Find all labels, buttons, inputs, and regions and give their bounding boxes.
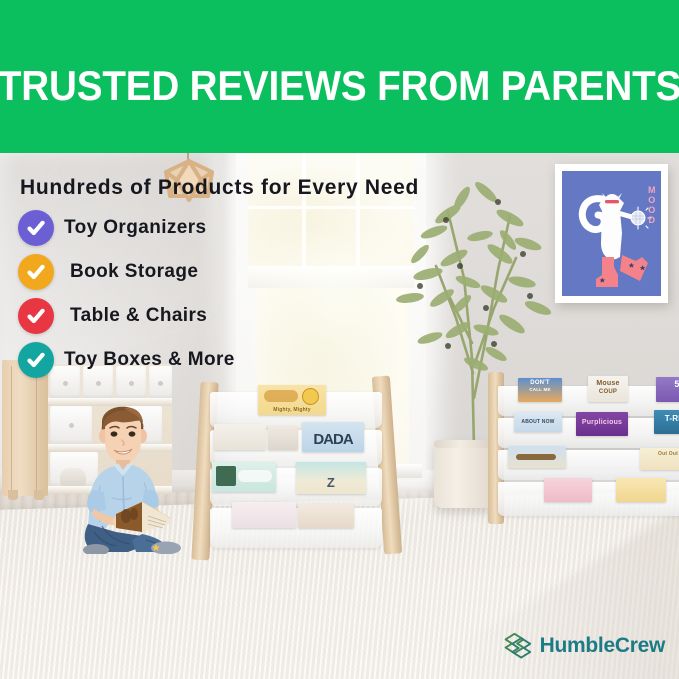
book: 5 — [656, 377, 679, 402]
feature-label: Toy Organizers — [64, 217, 207, 239]
organizer-leg — [8, 490, 18, 500]
feature-label: Book Storage — [70, 261, 198, 283]
check-icon — [18, 342, 54, 378]
check-icon — [18, 254, 54, 290]
feature-item-table-and-chairs: Table & Chairs — [18, 294, 438, 338]
brand-name: HumbleCrew — [540, 634, 665, 658]
book: DON'T CALL ME — [518, 378, 562, 402]
book — [544, 478, 592, 502]
page-title: TRUSTED REVIEWS FROM PARENTS — [27, 0, 652, 153]
book — [214, 424, 266, 450]
check-icon — [18, 298, 54, 334]
interlocking-diamonds-logo-icon — [503, 631, 533, 661]
feature-item-book-storage: Book Storage — [18, 250, 438, 294]
poster-mood-text: MOOD — [648, 185, 656, 225]
book: Mouse COUP — [588, 376, 628, 402]
center-sling-bookcase: Mighty, Mighty DADA Z — [196, 382, 396, 560]
subheading: Hundreds of Products for Every Need — [20, 176, 419, 200]
brand-logo: HumbleCrew — [503, 631, 665, 661]
book: ABOUT NOW — [514, 412, 562, 432]
feature-label: Toy Boxes & More — [64, 349, 235, 371]
feature-list: Toy Organizers Book Storage Table & Chai… — [18, 206, 438, 382]
check-icon — [18, 210, 54, 246]
organizer-leg — [34, 490, 44, 500]
book — [508, 446, 566, 468]
book: Z — [296, 462, 366, 494]
child-reading-book — [66, 394, 216, 554]
promo-image: MOOD — [0, 0, 679, 679]
book — [616, 478, 666, 502]
feature-item-toy-organizers: Toy Organizers — [18, 206, 438, 250]
right-sling-bookcase: DON'T CALL ME Mouse COUP 5 ABOUT NOW Pur… — [488, 372, 679, 528]
feature-item-toy-boxes: Toy Boxes & More — [18, 338, 438, 382]
book: Out Out — [640, 448, 679, 470]
book — [268, 426, 298, 450]
book: Purplicious — [576, 412, 628, 436]
feature-label: Table & Chairs — [70, 305, 207, 327]
book: DADA — [302, 422, 364, 452]
book: Mighty, Mighty — [258, 385, 326, 415]
book — [232, 502, 296, 528]
book: T-REX — [654, 410, 679, 434]
poster-artwork: MOOD — [562, 171, 661, 296]
book — [212, 462, 276, 492]
book — [298, 504, 354, 528]
framed-poster: MOOD — [555, 164, 668, 303]
